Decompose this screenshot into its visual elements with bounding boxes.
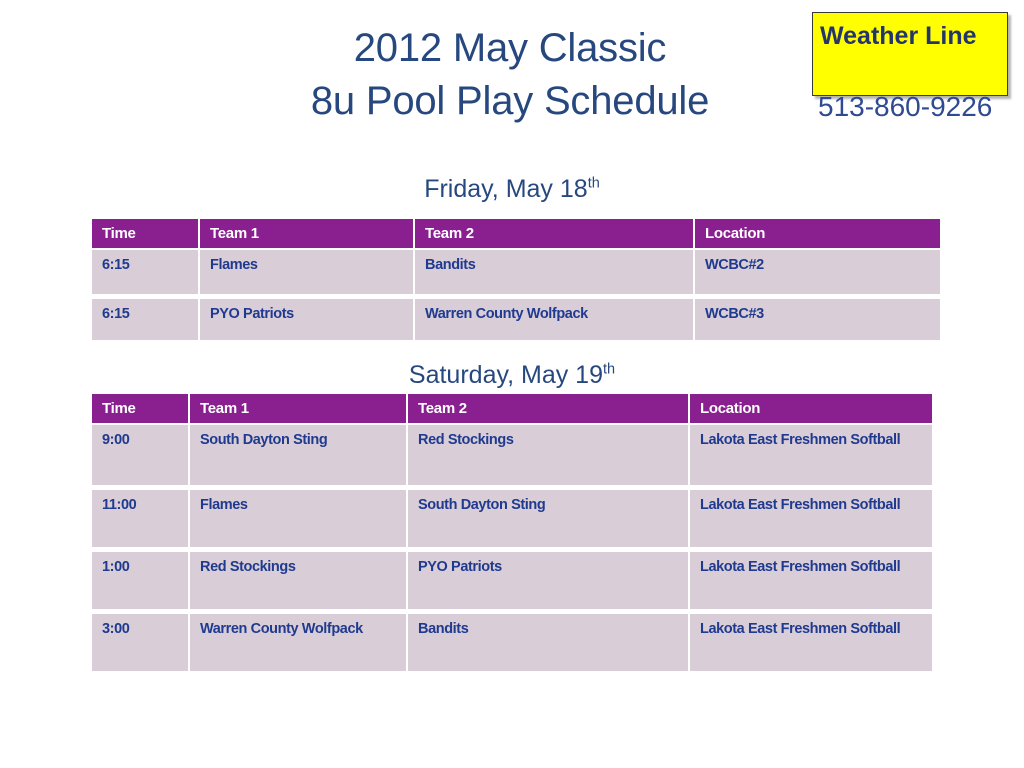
cell-time: 6:15 [92,294,200,340]
table-row: 9:00 South Dayton Sting Red Stockings La… [92,423,932,485]
cell-team2: Bandits [408,609,690,671]
column-header-time: Time [92,219,200,248]
column-header-team1: Team 1 [190,394,408,423]
cell-team2: South Dayton Sting [408,485,690,547]
saturday-date-text: Saturday, May 19 [409,361,603,389]
cell-team2: Warren County Wolfpack [415,294,695,340]
page-title-line-1: 2012 May Classic [180,22,840,75]
friday-date-text: Friday, May 18 [424,175,587,203]
cell-location: WCBC#3 [695,294,940,340]
cell-location: Lakota East Freshmen Softball [690,423,932,485]
table-row: 6:15 PYO Patriots Warren County Wolfpack… [92,294,940,340]
cell-location: Lakota East Freshmen Softball [690,547,932,609]
table-row: 3:00 Warren County Wolfpack Bandits Lako… [92,609,932,671]
page-title: 2012 May Classic 8u Pool Play Schedule [180,22,840,128]
cell-time: 6:15 [92,248,200,294]
cell-team1: Flames [190,485,408,547]
friday-date-heading: Friday, May 18th [0,174,1024,204]
table-header-row: Time Team 1 Team 2 Location [92,219,940,248]
table-row: 1:00 Red Stockings PYO Patriots Lakota E… [92,547,932,609]
cell-team1: Red Stockings [190,547,408,609]
table-row: 11:00 Flames South Dayton Sting Lakota E… [92,485,932,547]
column-header-team2: Team 2 [408,394,690,423]
table-header-row: Time Team 1 Team 2 Location [92,394,932,423]
cell-time: 3:00 [92,609,190,671]
cell-location: Lakota East Freshmen Softball [690,609,932,671]
cell-time: 9:00 [92,423,190,485]
cell-team2: PYO Patriots [408,547,690,609]
saturday-date-ordinal: th [603,362,615,378]
cell-team1: Warren County Wolfpack [190,609,408,671]
friday-schedule-table: Time Team 1 Team 2 Location 6:15 Flames … [92,219,940,340]
cell-location: WCBC#2 [695,248,940,294]
cell-team1: South Dayton Sting [190,423,408,485]
cell-team2: Bandits [415,248,695,294]
column-header-team2: Team 2 [415,219,695,248]
cell-time: 11:00 [92,485,190,547]
column-header-location: Location [690,394,932,423]
cell-team1: Flames [200,248,415,294]
cell-time: 1:00 [92,547,190,609]
column-header-location: Location [695,219,940,248]
cell-location: Lakota East Freshmen Softball [690,485,932,547]
weather-line-label: Weather Line [820,20,1020,53]
weather-line-phone: 513-860-9226 [818,88,1023,126]
saturday-schedule-table: Time Team 1 Team 2 Location 9:00 South D… [92,394,932,671]
page-title-line-2: 8u Pool Play Schedule [180,75,840,128]
cell-team1: PYO Patriots [200,294,415,340]
column-header-team1: Team 1 [200,219,415,248]
saturday-date-heading: Saturday, May 19th [0,360,1024,390]
table-row: 6:15 Flames Bandits WCBC#2 [92,248,940,294]
friday-date-ordinal: th [588,176,600,192]
column-header-time: Time [92,394,190,423]
cell-team2: Red Stockings [408,423,690,485]
